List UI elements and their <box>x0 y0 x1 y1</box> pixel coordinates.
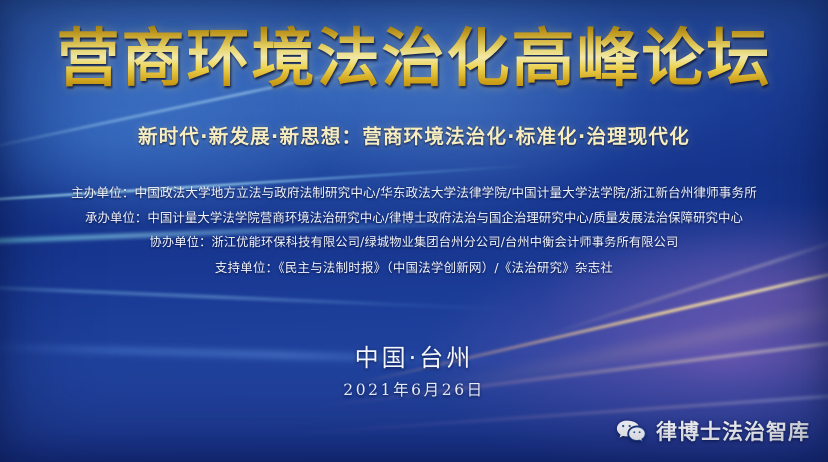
page-title: 营商环境法治化高峰论坛 <box>0 22 828 96</box>
organizer-line-host: 主办单位：中国政法大学地方立法与政府法制研究中心/华东政法大学法律学院/中国计量… <box>0 180 828 205</box>
poster-content: 营商环境法治化高峰论坛 新时代·新发展·新思想：营商环境法治化·标准化·治理现代… <box>0 0 828 462</box>
venue-city: 中国·台州 <box>0 338 828 373</box>
watermark: 律博士法治智库 <box>616 416 810 446</box>
venue-block: 中国·台州 2021年6月26日 <box>0 338 828 400</box>
watermark-label: 律博士法治智库 <box>656 416 810 446</box>
venue-date: 2021年6月26日 <box>0 378 828 400</box>
organizer-line-coorganize: 协办单位：浙江优能环保科技有限公司/绿城物业集团台州分公司/台州中衡会计师事务所… <box>0 230 828 255</box>
organizer-list: 主办单位：中国政法大学地方立法与政府法制研究中心/华东政法大学法律学院/中国计量… <box>0 180 828 280</box>
wechat-icon <box>616 419 646 443</box>
conference-poster: 营商环境法治化高峰论坛 新时代·新发展·新思想：营商环境法治化·标准化·治理现代… <box>0 0 828 462</box>
poster-subtitle: 新时代·新发展·新思想：营商环境法治化·标准化·治理现代化 <box>0 120 828 149</box>
organizer-line-undertake: 承办单位：中国计量大学法学院营商环境法治研究中心/律博士政府法治与国企治理研究中… <box>0 205 828 230</box>
organizer-line-support: 支持单位：《民主与法制时报》（中国法学创新网）/《法治研究》杂志社 <box>0 255 828 280</box>
